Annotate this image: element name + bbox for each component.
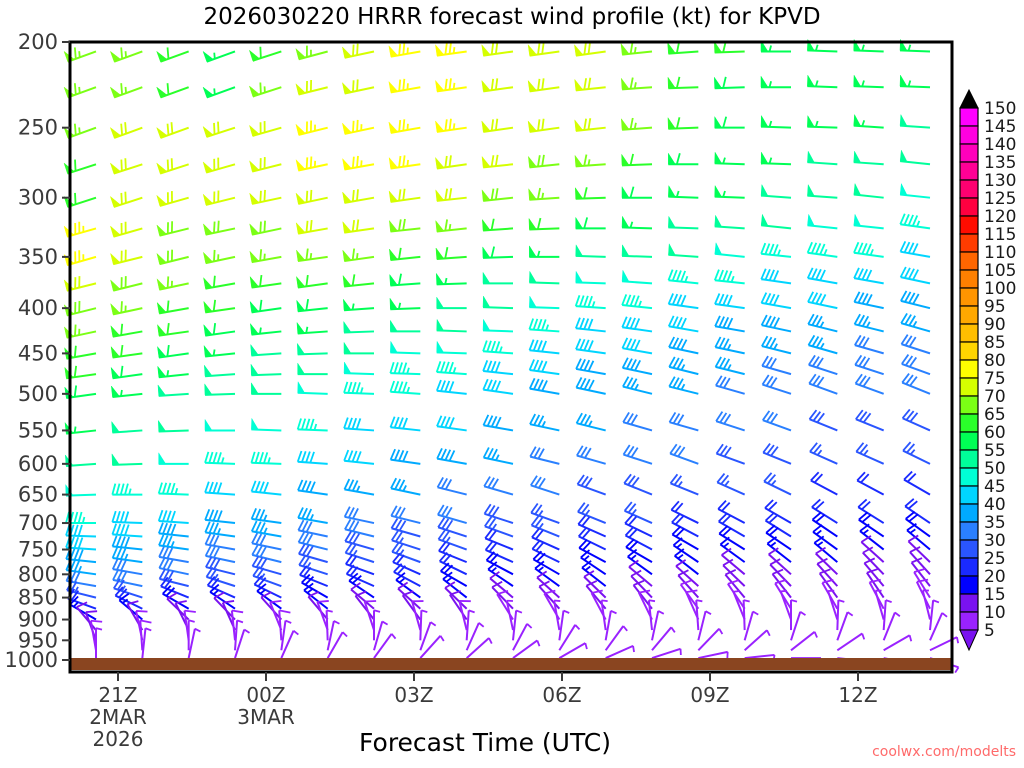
barb-half (357, 253, 358, 259)
colorbar-label: 130 (984, 171, 1016, 191)
barb-half (260, 328, 261, 334)
barb-full (218, 122, 219, 133)
barb-full (306, 221, 307, 232)
colorbar-label: 90 (984, 315, 1006, 335)
colorbar-cell (960, 288, 978, 306)
colorbar-cell (960, 594, 978, 612)
colorbar-cell (960, 612, 978, 630)
barb-half (635, 123, 636, 129)
colorbar-cell (960, 414, 978, 432)
barb-shaft (837, 600, 838, 630)
x-tick-label-date: 2MAR (89, 705, 147, 729)
y-tick-label: 550 (18, 418, 58, 442)
x-tick-label-date: 3MAR (237, 705, 295, 729)
barb-shaft (420, 610, 421, 640)
barb-full (75, 83, 76, 94)
barb-half (407, 124, 408, 130)
y-tick-label: 1000 (5, 648, 58, 672)
barb-full (75, 160, 76, 171)
colorbar-label: 95 (984, 297, 1006, 317)
colorbar-cell (960, 252, 978, 270)
colorbar-cell (960, 504, 978, 522)
barb-full (218, 221, 219, 232)
barb-full (121, 124, 122, 135)
barb-full (357, 44, 358, 55)
barb-full (311, 220, 312, 231)
barb-full (75, 193, 76, 204)
barb-full (260, 222, 261, 233)
colorbar-cell (960, 558, 978, 576)
colorbar-cell (960, 576, 978, 594)
colorbar-label: 145 (984, 117, 1016, 137)
colorbar-cell (960, 306, 978, 324)
colorbar-cell (960, 162, 978, 180)
barb-half (454, 123, 455, 129)
y-tick-label: 250 (18, 116, 58, 140)
colorbar-label: 100 (984, 279, 1016, 299)
barb-full (311, 190, 312, 201)
colorbar-label: 140 (984, 135, 1016, 155)
barb-full (403, 43, 404, 54)
barb-full (75, 346, 76, 357)
barb-full (121, 324, 122, 335)
colorbar-cell (960, 432, 978, 450)
barb-half (407, 160, 408, 166)
barb-full (260, 47, 261, 58)
barb-full (317, 601, 328, 602)
barb-half (633, 646, 634, 652)
colorbar-label: 80 (984, 351, 1006, 371)
barb-half (454, 83, 455, 89)
colorbar-label: 70 (984, 387, 1006, 407)
wind-profile-chart: 2026030220 HRRR forecast wind profile (k… (0, 0, 1024, 768)
colorbar-label: 10 (984, 603, 1006, 623)
barb-half (696, 600, 702, 601)
barb-full (264, 190, 265, 201)
colorbar-label: 25 (984, 549, 1006, 569)
x-tick-label-time: 09Z (690, 683, 729, 707)
barb-full (353, 190, 354, 201)
colorbar-label: 15 (984, 585, 1006, 605)
colorbar: 1501451401351301251201151101051009590858… (960, 90, 1016, 650)
colorbar-cell (960, 126, 978, 144)
barb-half (167, 370, 168, 376)
barb-full (353, 80, 354, 91)
y-tick-label: 400 (18, 296, 58, 320)
barb-half (79, 87, 80, 93)
barb-full (168, 160, 169, 171)
plot-background (70, 42, 952, 672)
colorbar-cell (960, 540, 978, 558)
y-axis: 2002503003504004505005506006507007508008… (5, 30, 70, 672)
colorbar-over-arrow (960, 90, 978, 108)
y-tick-label: 650 (18, 483, 58, 507)
barb-full (75, 47, 76, 58)
watermark-link[interactable]: coolwx.com/modelts (872, 744, 1016, 760)
y-tick-label: 300 (18, 186, 58, 210)
colorbar-label: 110 (984, 243, 1016, 263)
x-tick-label-time: 21Z (98, 683, 137, 707)
colorbar-label: 40 (984, 495, 1006, 515)
barb-full (357, 156, 358, 167)
barb-full (168, 124, 169, 135)
barb-full (399, 44, 400, 55)
barb-half (554, 601, 560, 602)
barb-full (357, 120, 358, 131)
barb-full (86, 611, 97, 612)
barb-half (126, 87, 127, 93)
x-tick-label-time: 00Z (246, 683, 285, 707)
barb-full (307, 191, 308, 202)
barb-half (449, 224, 450, 230)
barb-half (214, 53, 215, 59)
barb-half (649, 600, 655, 601)
barb-half (542, 193, 543, 199)
barb-half (407, 83, 408, 89)
barb-half (75, 427, 76, 433)
barb-full (168, 47, 169, 58)
barb-full (260, 249, 261, 260)
colorbar-label: 55 (984, 441, 1006, 461)
colorbar-cell (960, 360, 978, 378)
terrain-band (71, 658, 952, 670)
barb-full (167, 301, 168, 312)
barb-half (454, 47, 455, 53)
y-tick-label: 200 (18, 30, 58, 54)
y-tick-label: 750 (18, 538, 58, 562)
barb-full (214, 123, 215, 134)
barb-full (136, 611, 147, 612)
barb-full (91, 621, 102, 622)
barb-full (121, 301, 122, 312)
barb-full (214, 276, 215, 287)
barb-full (399, 120, 400, 131)
x-tick-label-time: 06Z (542, 683, 581, 707)
barb-full (214, 222, 215, 233)
colorbar-cell (960, 198, 978, 216)
y-tick-label: 700 (18, 511, 58, 535)
barb-half (588, 159, 589, 165)
colorbar-label: 135 (984, 153, 1016, 173)
barb-full (357, 79, 358, 90)
colorbar-cell (960, 216, 978, 234)
colorbar-label: 5 (984, 621, 995, 641)
barb-half (957, 637, 958, 643)
barb-full (121, 193, 122, 204)
barb-half (733, 591, 739, 592)
barb-full (311, 156, 312, 167)
colorbar-label: 75 (984, 369, 1006, 389)
barb-full (307, 157, 308, 168)
colorbar-label: 60 (984, 423, 1006, 443)
barb-half (955, 667, 958, 672)
barb-full (357, 189, 358, 200)
colorbar-label: 65 (984, 405, 1006, 425)
colorbar-label: 115 (984, 225, 1016, 245)
barb-full (365, 601, 376, 602)
barb-half (79, 51, 80, 57)
colorbar-label: 50 (984, 459, 1006, 479)
barb-half (781, 591, 787, 592)
colorbar-cell (960, 396, 978, 414)
colorbar-cell (960, 522, 978, 540)
y-tick-label: 450 (18, 341, 58, 365)
x-axis-title: Forecast Time (UTC) (255, 728, 715, 757)
barb-full (172, 158, 173, 169)
y-tick-label: 850 (18, 586, 58, 610)
barb-half (311, 253, 312, 259)
colorbar-cell (960, 108, 978, 126)
colorbar-label: 85 (984, 333, 1006, 353)
barb-half (361, 160, 362, 166)
barb-half (126, 51, 127, 57)
barb-full (353, 121, 354, 132)
barb-full (125, 158, 126, 169)
barb-full (171, 122, 172, 133)
colorbar-cell (960, 234, 978, 252)
colorbar-cell (960, 378, 978, 396)
chart-canvas: 2002503003504004505005506006507007508008… (0, 0, 1024, 768)
colorbar-label: 150 (984, 99, 1016, 119)
barb-full (403, 119, 404, 130)
y-tick-label: 800 (18, 562, 58, 586)
colorbar-label: 30 (984, 531, 1006, 551)
colorbar-label: 45 (984, 477, 1006, 497)
barb-half (306, 327, 307, 333)
barb-full (260, 82, 261, 93)
barb-full (168, 83, 169, 94)
barb-full (75, 325, 76, 336)
barb-full (214, 250, 215, 261)
barb-full (121, 47, 122, 58)
barb-half (635, 82, 636, 88)
barb-full (121, 160, 122, 171)
barb-half (353, 304, 354, 310)
barb-full (75, 124, 76, 135)
x-tick-label-time: 12Z (838, 683, 877, 707)
colorbar-cell (960, 270, 978, 288)
barb-full (353, 157, 354, 168)
barb-full (399, 80, 400, 91)
x-tick-label-year: 2026 (93, 727, 144, 751)
barb-half (601, 600, 607, 601)
barb-half (407, 48, 408, 54)
colorbar-cell (960, 342, 978, 360)
y-tick-label: 350 (18, 245, 58, 269)
barb-full (403, 79, 404, 90)
barb-full (353, 45, 354, 56)
colorbar-label: 105 (984, 261, 1016, 281)
barb-full (260, 191, 261, 202)
barb-half (214, 349, 215, 355)
barb-shaft (327, 610, 328, 640)
barb-full (121, 83, 122, 94)
y-tick-label: 600 (18, 452, 58, 476)
barb-half (79, 127, 80, 133)
barb-full (168, 276, 169, 287)
y-tick-label: 500 (18, 382, 58, 406)
barb-full (264, 221, 265, 232)
x-tick-label-time: 03Z (394, 683, 433, 707)
colorbar-cell (960, 468, 978, 486)
colorbar-cell (960, 144, 978, 162)
barb-full (125, 122, 126, 133)
barb-full (125, 192, 126, 203)
barb-half (264, 254, 265, 260)
colorbar-label: 20 (984, 567, 1006, 587)
colorbar-label: 120 (984, 207, 1016, 227)
colorbar-cell (960, 486, 978, 504)
colorbar-cell (960, 450, 978, 468)
colorbar-cell (960, 324, 978, 342)
barb-half (214, 88, 215, 94)
colorbar-under-arrow (960, 630, 978, 650)
barb-half (635, 47, 636, 53)
barb-half (121, 390, 122, 396)
colorbar-label: 35 (984, 513, 1006, 533)
colorbar-cell (960, 180, 978, 198)
barb-shaft (744, 600, 745, 630)
colorbar-label: 125 (984, 189, 1016, 209)
